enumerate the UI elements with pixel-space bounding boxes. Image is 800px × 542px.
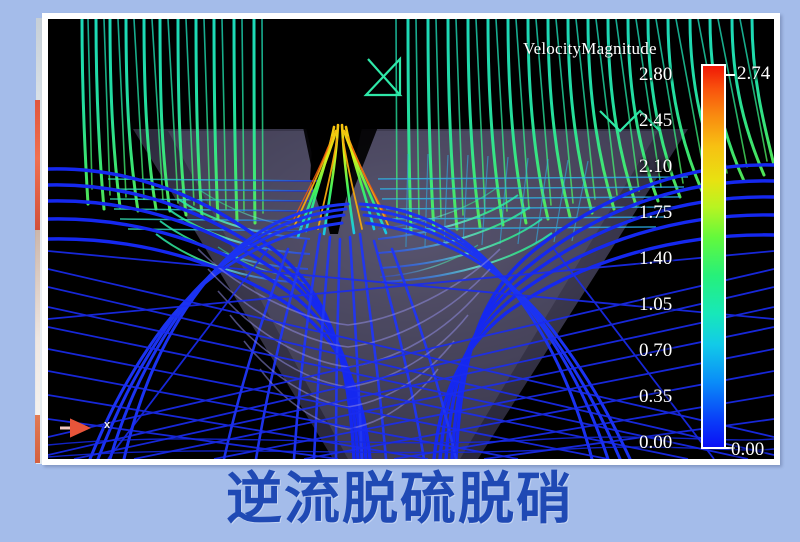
page-title: 逆流脱硫脱硝: [0, 472, 800, 528]
colorbar-tick-5: 1.05: [639, 294, 672, 316]
colorbar-tick-8: 0.00: [639, 432, 672, 454]
colorbar-tick-7: 0.35: [639, 386, 672, 408]
colorbar-tick-6: 0.70: [639, 340, 672, 362]
left-edge-red-strip: [35, 100, 40, 230]
colorbar-title: VelocityMagnitude: [523, 39, 657, 59]
axis-x-label: x: [104, 419, 110, 431]
colorbar-max-label: 2.74: [737, 63, 770, 85]
left-edge-light-strip: [35, 230, 40, 415]
axis-indicator: [58, 417, 106, 441]
left-edge-red-strip-lower: [35, 415, 40, 463]
visualization-frame: x VelocityMagnitude 2.80 2.45 2.10 1.75 …: [42, 13, 780, 465]
colorbar-tick-2: 2.10: [639, 156, 672, 178]
colorbar-max-tickmark: [724, 74, 735, 76]
colorbar-tick-4: 1.40: [639, 248, 672, 270]
visualization-canvas: x VelocityMagnitude 2.80 2.45 2.10 1.75 …: [48, 19, 774, 459]
colorbar-tick-1: 2.45: [639, 110, 672, 132]
colorbar-tick-0: 2.80: [639, 64, 672, 86]
colorbar-min-label: 0.00: [731, 439, 764, 459]
screenshot-root: x VelocityMagnitude 2.80 2.45 2.10 1.75 …: [0, 0, 800, 542]
colorbar-gradient[interactable]: [701, 64, 726, 449]
colorbar-tick-3: 1.75: [639, 202, 672, 224]
